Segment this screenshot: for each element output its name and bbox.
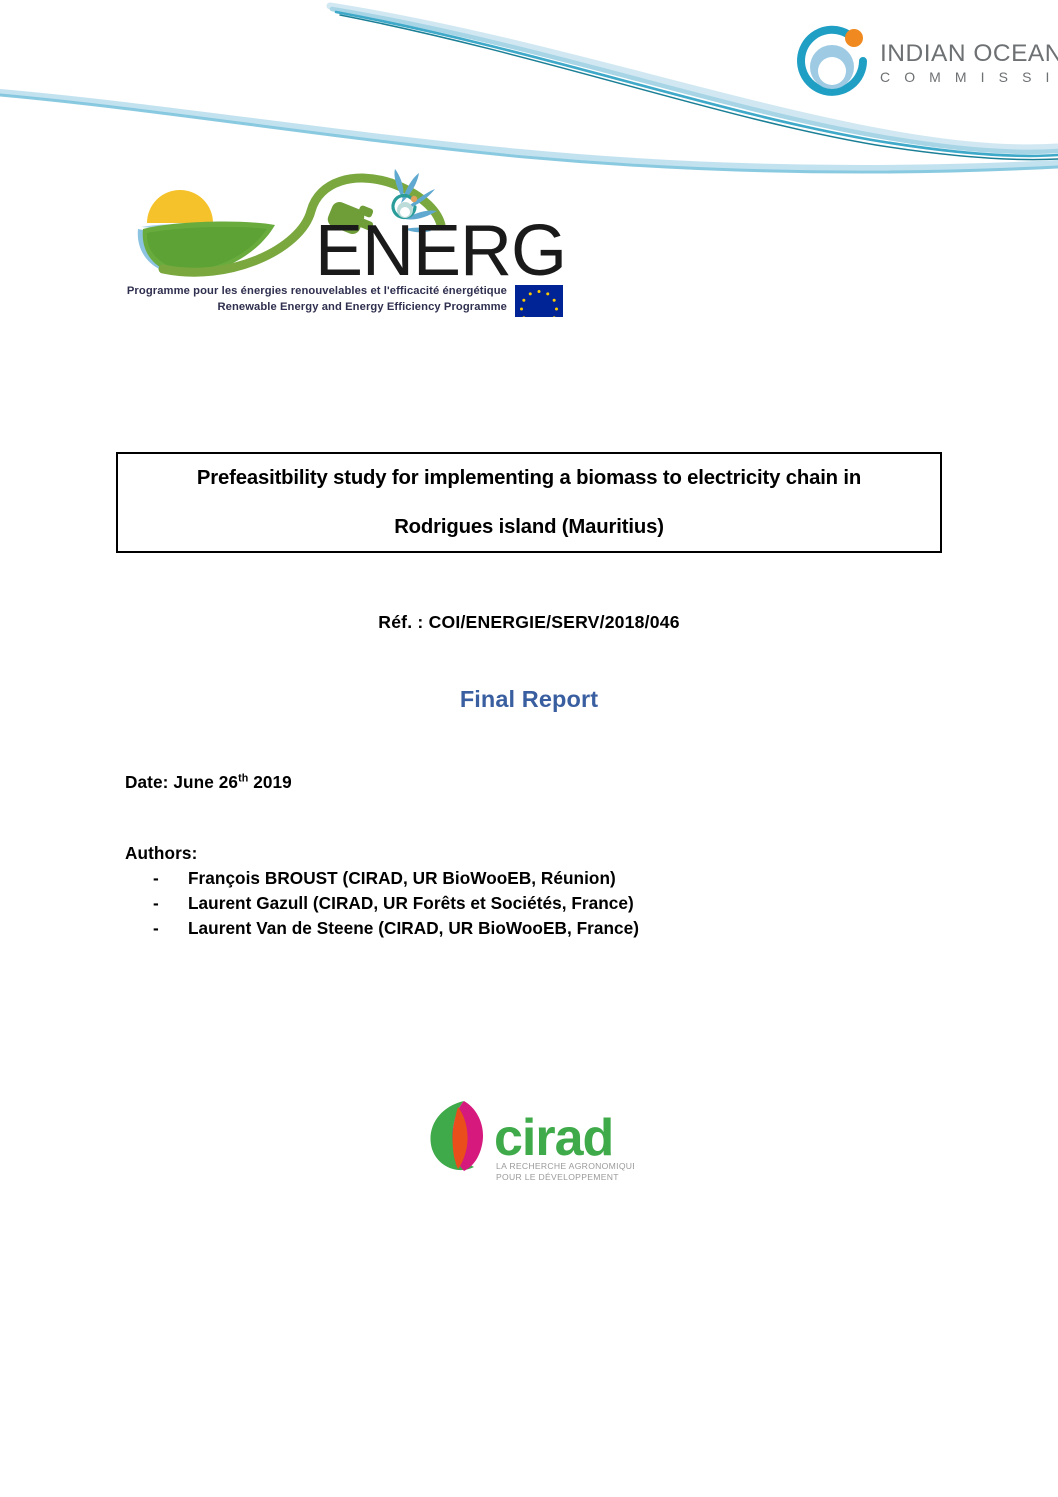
- report-title-line-1: Prefeasitbility study for implementing a…: [197, 466, 861, 490]
- date-year: 2019: [248, 772, 292, 792]
- energies-tagline-fr: Programme pour les énergies renouvelable…: [127, 283, 507, 299]
- date-prefix: Date: June 26: [125, 772, 238, 792]
- ioc-wordmark: INDIAN OCEAN C O M M I S S I O N: [880, 42, 1058, 84]
- energies-wordmark-text: ENERGIES: [315, 211, 563, 287]
- energies-logo-graphic: ENERGIES: [133, 163, 563, 287]
- report-title-box: Prefeasitbility study for implementing a…: [116, 452, 942, 553]
- date-ordinal-suffix: th: [238, 772, 248, 784]
- cirad-logo: cirad LA RECHERCHE AGRONOMIQUE POUR LE D…: [424, 1093, 634, 1188]
- author-name: François BROUST (CIRAD, UR BioWooEB, Réu…: [188, 868, 825, 889]
- author-list-item: - Laurent Van de Steene (CIRAD, UR BioWo…: [125, 918, 825, 939]
- energies-programme-logo: ENERGIES Programme pour les énergies ren…: [133, 163, 563, 323]
- author-name: Laurent Van de Steene (CIRAD, UR BioWooE…: [188, 918, 825, 939]
- authors-heading: Authors:: [125, 843, 825, 864]
- author-name: Laurent Gazull (CIRAD, UR Forêts et Soci…: [188, 893, 825, 914]
- author-bullet: -: [125, 868, 188, 889]
- report-title-line-2: Rodrigues island (Mauritius): [394, 515, 664, 539]
- author-bullet: -: [125, 893, 188, 914]
- ioc-name-line2: C O M M I S S I O N: [880, 70, 1058, 84]
- report-reference: Réf. : COI/ENERGIE/SERV/2018/046: [0, 612, 1058, 633]
- document-page: INDIAN OCEAN C O M M I S S I O N: [0, 0, 1058, 1497]
- report-date: Date: June 26th 2019: [125, 772, 292, 793]
- ioc-mark-icon: [790, 21, 874, 105]
- author-bullet: -: [125, 918, 188, 939]
- ioc-name-line1: INDIAN OCEAN: [880, 42, 1058, 67]
- authors-block: Authors: - François BROUST (CIRAD, UR Bi…: [125, 843, 825, 939]
- european-union-flag-icon: [515, 285, 563, 317]
- energies-tagline-en: Renewable Energy and Energy Efficiency P…: [127, 299, 507, 315]
- sun-shape: [147, 190, 213, 223]
- indian-ocean-commission-logo: INDIAN OCEAN C O M M I S S I O N: [790, 18, 1050, 108]
- author-list-item: - François BROUST (CIRAD, UR BioWooEB, R…: [125, 868, 825, 889]
- cirad-tagline-line1: LA RECHERCHE AGRONOMIQUE: [496, 1161, 634, 1171]
- cirad-tagline-line2: POUR LE DÉVELOPPEMENT: [496, 1172, 619, 1182]
- report-type-label: Final Report: [0, 686, 1058, 713]
- author-list-item: - Laurent Gazull (CIRAD, UR Forêts et So…: [125, 893, 825, 914]
- cirad-wordmark-text: cirad: [494, 1109, 613, 1167]
- energies-tagline: Programme pour les énergies renouvelable…: [133, 283, 563, 317]
